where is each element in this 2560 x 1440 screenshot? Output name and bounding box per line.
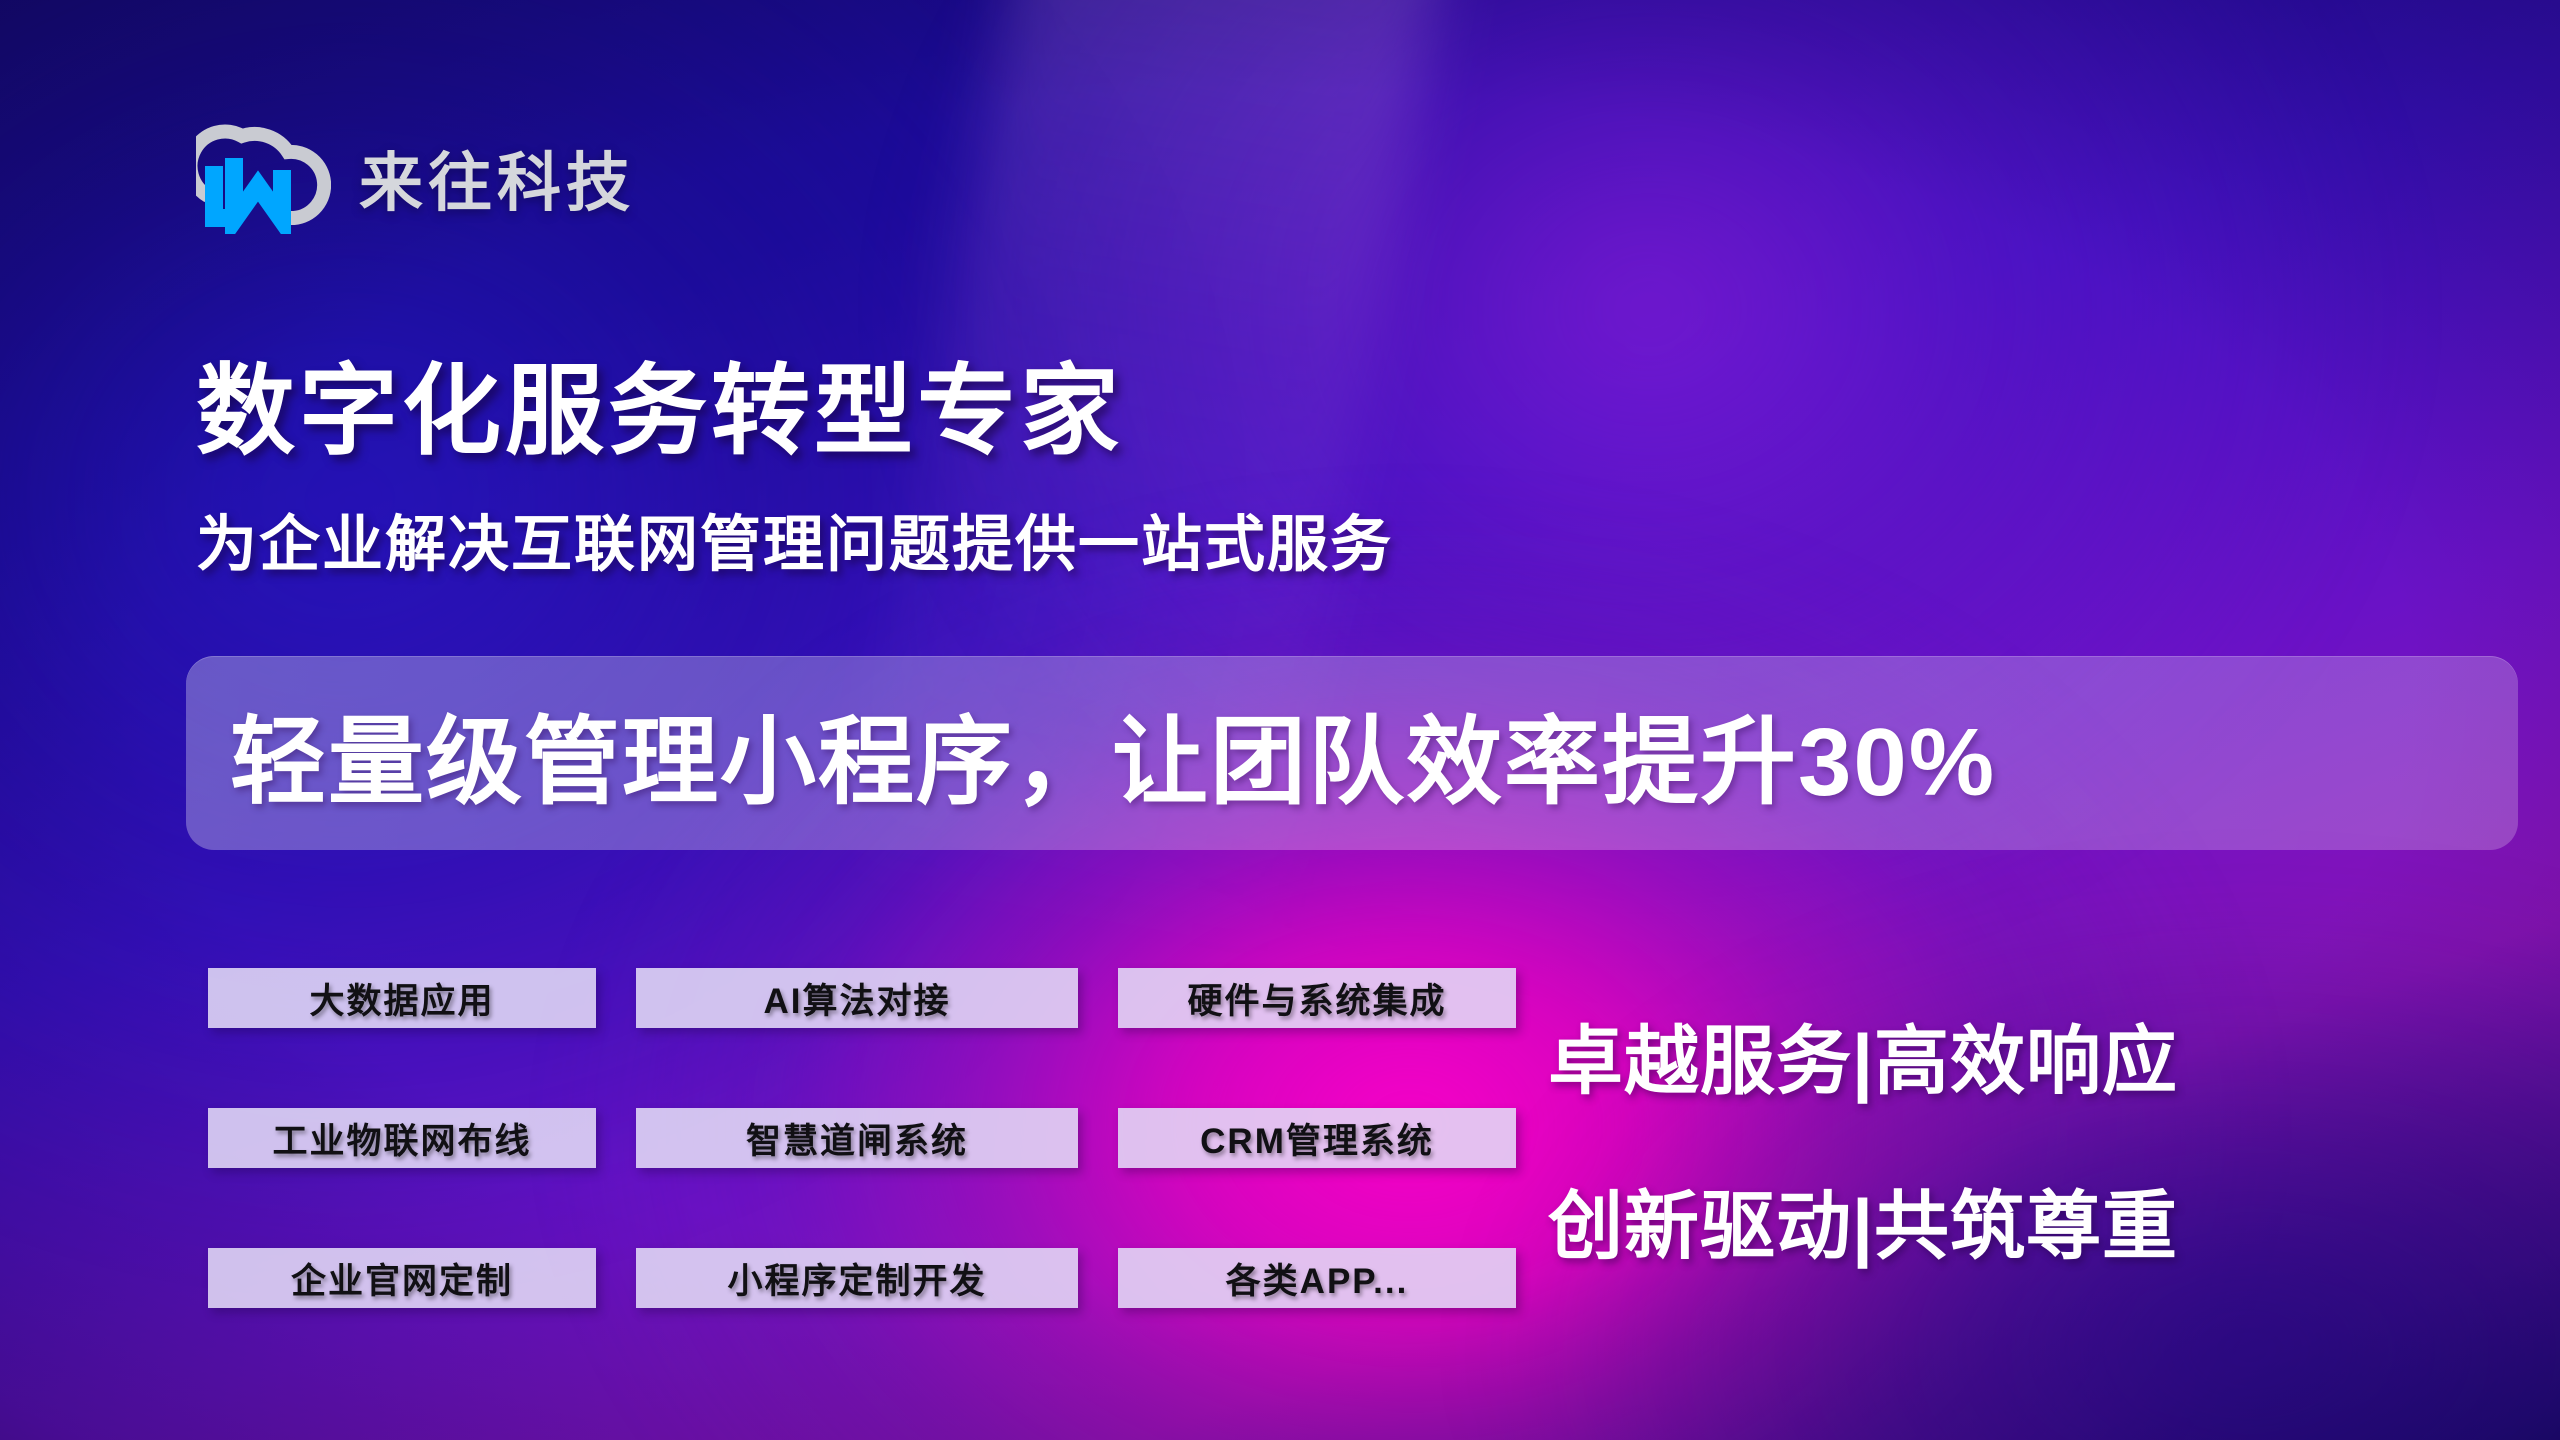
highlight-text: 轻量级管理小程序，让团队效率提升30% — [230, 684, 1996, 823]
service-tag[interactable]: 小程序定制开发 — [636, 1248, 1078, 1308]
service-tag-label: 各类APP... — [1226, 1253, 1409, 1304]
slogan-line: 创新驱动|共筑尊重 — [1548, 1165, 2178, 1274]
service-tag-label: 工业物联网布线 — [272, 1113, 531, 1164]
page-subtitle: 为企业解决互联网管理问题提供一站式服务 — [196, 494, 1393, 583]
service-tag-label: 企业官网定制 — [291, 1253, 513, 1304]
service-tag[interactable]: CRM管理系统 — [1118, 1108, 1516, 1168]
slogan-line: 卓越服务|高效响应 — [1548, 1000, 2178, 1109]
cloud-lw-logo-icon — [196, 122, 331, 234]
highlight-banner: 轻量级管理小程序，让团队效率提升30% — [186, 656, 2518, 850]
service-tag-label: 小程序定制开发 — [727, 1253, 986, 1304]
promo-banner: 来往科技 数字化服务转型专家 为企业解决互联网管理问题提供一站式服务 轻量级管理… — [0, 0, 2560, 1440]
slogan-block: 卓越服务|高效响应 创新驱动|共筑尊重 — [1548, 1000, 2178, 1274]
service-tag-label: CRM管理系统 — [1200, 1113, 1434, 1164]
page-title: 数字化服务转型专家 — [196, 330, 1123, 474]
service-tag-label: AI算法对接 — [763, 973, 950, 1024]
service-tag[interactable]: 大数据应用 — [208, 968, 596, 1028]
service-tag-label: 智慧道闸系统 — [746, 1113, 968, 1164]
service-tag[interactable]: 各类APP... — [1118, 1248, 1516, 1308]
brand-name: 来往科技 — [359, 132, 635, 224]
service-tag-label: 大数据应用 — [309, 973, 494, 1024]
service-tag[interactable]: 工业物联网布线 — [208, 1108, 596, 1168]
service-tag[interactable]: 硬件与系统集成 — [1118, 968, 1516, 1028]
service-tag-grid: 大数据应用 AI算法对接 硬件与系统集成 工业物联网布线 智慧道闸系统 CRM管… — [208, 968, 1516, 1308]
service-tag[interactable]: AI算法对接 — [636, 968, 1078, 1028]
brand-logo[interactable]: 来往科技 — [196, 122, 635, 234]
banner-content: 来往科技 数字化服务转型专家 为企业解决互联网管理问题提供一站式服务 轻量级管理… — [0, 0, 2560, 1440]
service-tag[interactable]: 智慧道闸系统 — [636, 1108, 1078, 1168]
service-tag-label: 硬件与系统集成 — [1187, 973, 1446, 1024]
service-tag[interactable]: 企业官网定制 — [208, 1248, 596, 1308]
